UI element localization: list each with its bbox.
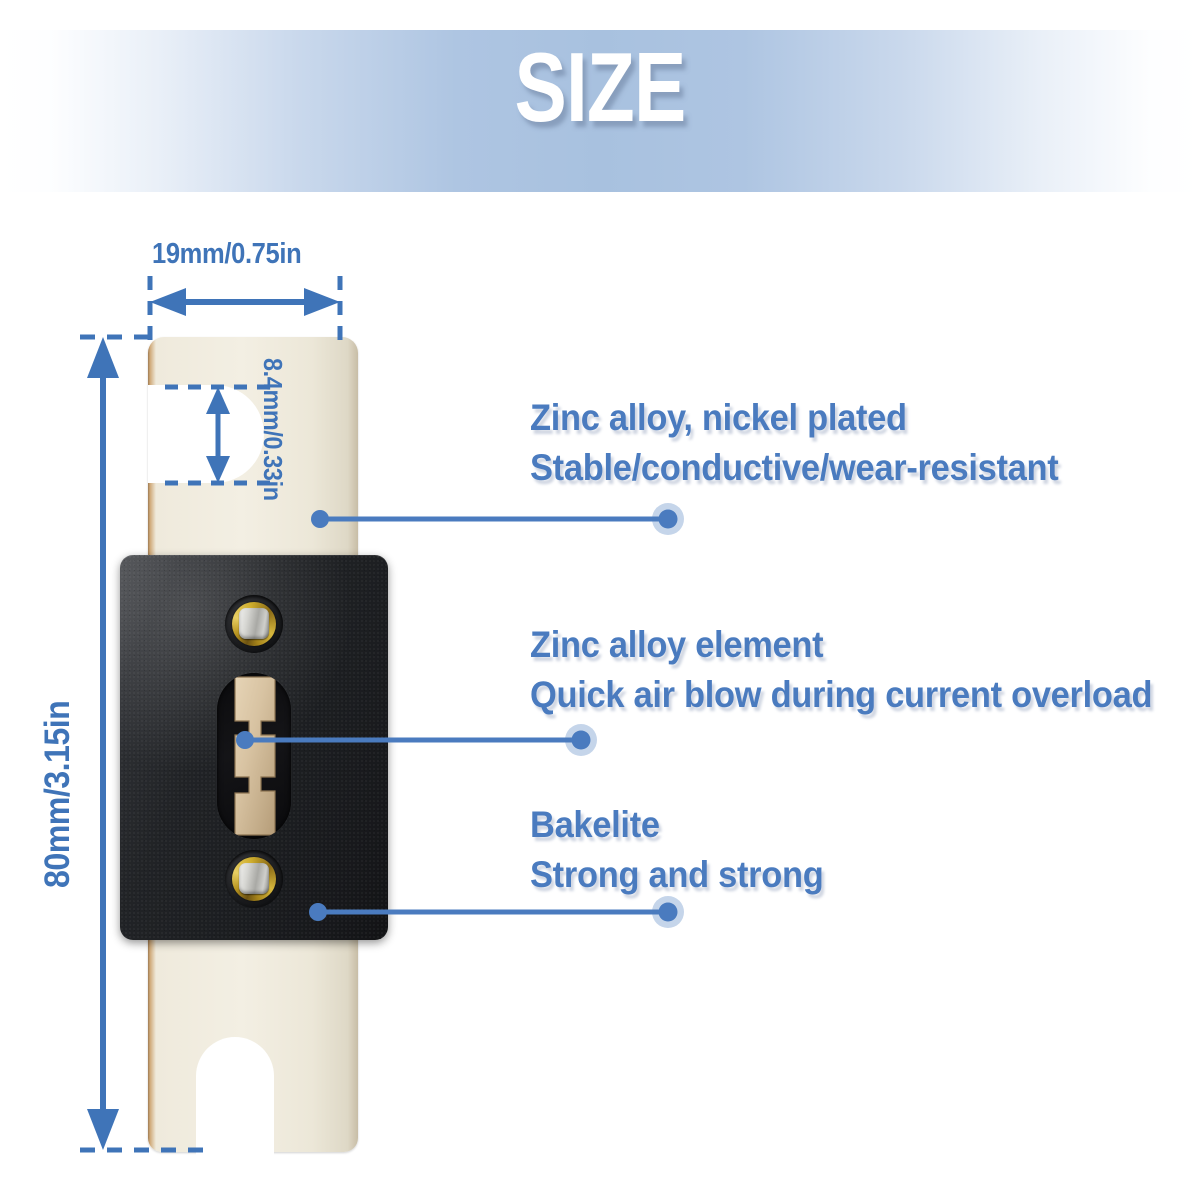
callout-blade-line2: Stable/conductive/wear-resistant bbox=[530, 443, 1058, 493]
callout-housing-line1: Bakelite bbox=[530, 800, 823, 850]
dimension-label-slot-width: 8.4mm/0.33in bbox=[257, 358, 288, 501]
page-title: SIZE bbox=[120, 38, 1080, 136]
callout-element: Zinc alloy element Quick air blow during… bbox=[530, 620, 1152, 720]
callout-blade: Zinc alloy, nickel plated Stable/conduct… bbox=[530, 393, 1058, 493]
zinc-element-window bbox=[217, 673, 291, 839]
dimension-label-width: 19mm/0.75in bbox=[152, 238, 301, 271]
callout-housing: Bakelite Strong and strong bbox=[530, 800, 823, 900]
infographic-canvas: SIZE bbox=[0, 0, 1200, 1200]
zinc-element-shape bbox=[217, 673, 291, 839]
rivet-pin bbox=[239, 863, 269, 894]
callout-blade-line1: Zinc alloy, nickel plated bbox=[530, 393, 1058, 443]
callout-housing-line2: Strong and strong bbox=[530, 850, 823, 900]
bottom-blade-notch bbox=[196, 1037, 274, 1155]
dimension-width-graphic bbox=[150, 276, 340, 345]
brass-rivet-bottom-icon bbox=[225, 850, 283, 908]
callout-element-line2: Quick air blow during current overload bbox=[530, 670, 1152, 720]
brass-rivet-top-icon bbox=[225, 595, 283, 653]
dimension-label-height: 80mm/3.15in bbox=[38, 701, 78, 888]
rivet-pin bbox=[239, 608, 269, 639]
callout-element-line1: Zinc alloy element bbox=[530, 620, 1152, 670]
top-blade-notch bbox=[148, 385, 264, 483]
